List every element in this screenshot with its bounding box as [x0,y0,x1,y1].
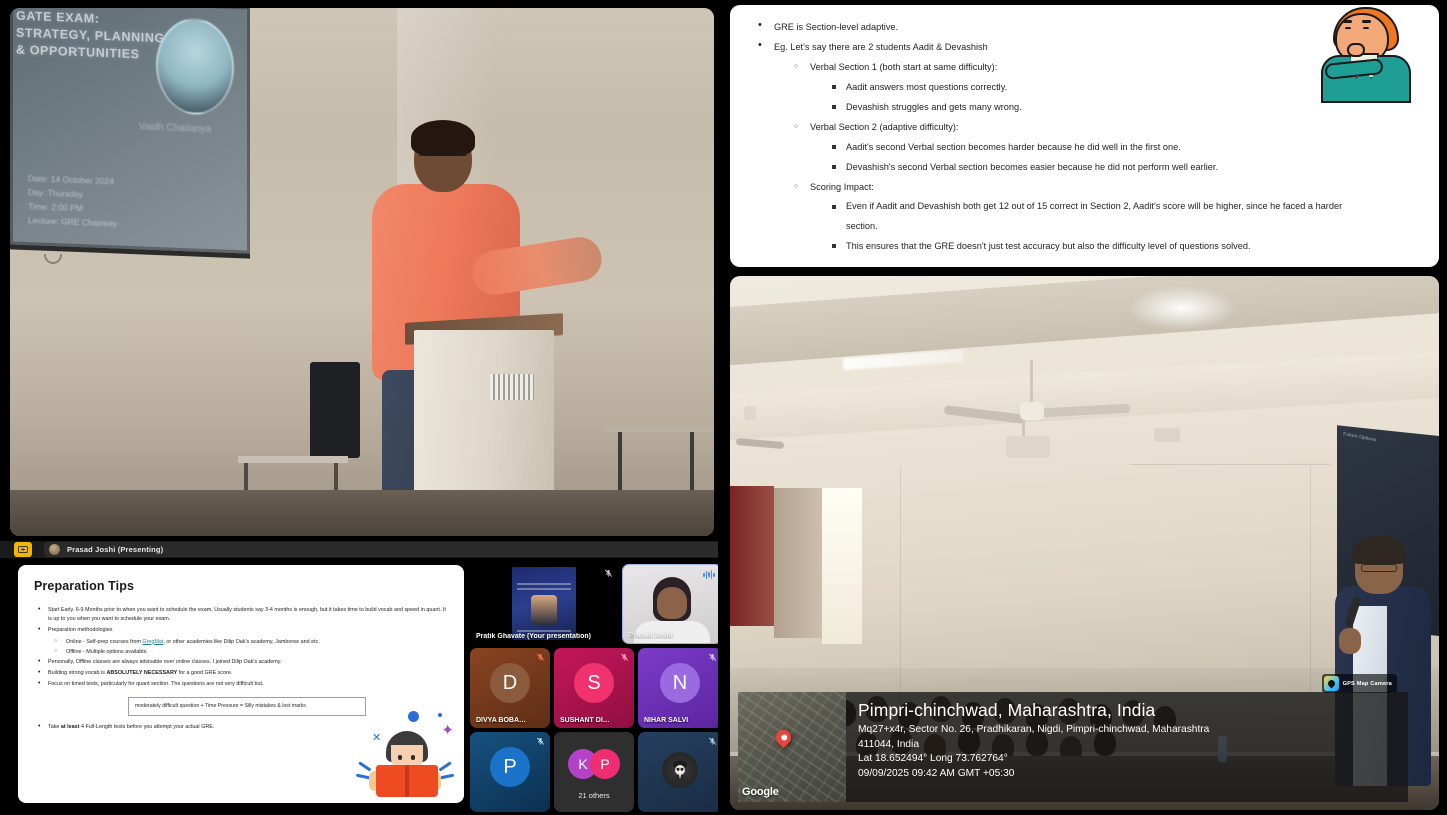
mic-off-icon [708,652,717,662]
presenter-glasses [419,154,467,163]
speaking-wave-icon [703,570,715,579]
avatar: P [490,747,530,787]
speaker-glasses [1361,564,1397,572]
avatar [49,544,60,555]
others-count-label: 21 others [554,791,634,800]
gps-timestamp: 09/09/2025 09:42 AM GMT +05:30 [858,767,1396,782]
window-curtain-red [730,486,774,626]
child-eye-left [398,755,402,760]
pin-glyph [1326,679,1336,689]
detail-lecture: Lecture: GRE Chairway [28,213,117,230]
tile-others-overflow[interactable]: K P 21 others [554,732,634,812]
fl-post: 4 Full-Length tests before you attempt y… [79,724,214,730]
gre-bullet-7: Devashish's second Verbal section become… [744,157,1421,177]
projection-screen: GATE EXAM: STRATEGY, PLANNING & OPPORTUN… [10,8,250,259]
tile-sushant-didw[interactable]: S SUSHANT DIDW... [554,648,634,728]
avatar: S [574,663,614,703]
bullet-personally: Personally, Offline classes are always a… [34,658,448,667]
reading-child-icon: ✦ ✕ [352,709,458,801]
gps-location-card: Google Pimpri-chinchwad, Maharashtra, In… [738,692,1408,802]
vocab-pre: Building strong vocab is [48,670,106,676]
bullet-offline: Offline - Multiple options available. [34,648,448,657]
gps-address-line2: 411044, India [858,738,1396,753]
gregmat-link[interactable]: GregMat [142,639,163,645]
mic-off-icon [536,736,545,746]
left-column: GATE EXAM: STRATEGY, PLANNING & OPPORTUN… [0,0,722,815]
meeting-screen: GATE EXAM: STRATEGY, PLANNING & OPPORTUN… [0,0,1447,815]
gre-bullet-5: Verbal Section 2 (adaptive difficulty): [744,117,1421,137]
wall-panel-line [1130,464,1330,465]
bullet-vocab: Building strong vocab is ABSOLUTELY NECE… [34,669,448,678]
fan-small-blade [736,438,784,449]
thinker-brow-left [1343,20,1352,23]
tile-anonymous-participant[interactable] [638,732,722,812]
avatar: D [490,663,530,703]
participant-face [657,587,687,619]
gps-coordinates: Lat 18.652494° Long 73.762764° [858,752,1396,767]
decor-ray [356,774,370,779]
vocab-bold: ABSOLUTELY NECESSARY [106,670,177,676]
fan-motor [1020,402,1044,420]
ceiling-light-glow [1127,286,1237,330]
shared-slide-preparation-tips[interactable]: Preparation Tips Start Early. 6-9 Months… [18,565,464,803]
podium-sticker [490,374,534,400]
tile-nihar-salvi[interactable]: N NIHAR SALVI [638,648,722,728]
gps-map-thumbnail[interactable]: Google [738,692,846,802]
map-pin-icon [773,727,794,748]
gre-bullet-10: This ensures that the GRE doesn't just t… [744,236,1421,256]
gre-bullet-9: Even if Aadit and Devashish both get 12 … [744,197,1421,236]
child-eye-right [411,755,415,760]
fan-small-motor [744,406,756,420]
floor [10,490,714,536]
mic-off-icon [536,652,545,662]
thumbnail-face [531,595,557,625]
thinker-eye-right [1363,27,1369,31]
tile-label: NIHAR SALVI [644,717,702,724]
thinking-person-icon [1319,5,1413,103]
decor-dot [408,711,419,722]
others-avatars: K P [568,749,620,779]
presenter-status-bar: Prasad Joshi (Presenting) [0,541,722,558]
fan-rod [1030,360,1033,404]
ceiling-beam [730,276,1439,367]
window-daylight [822,488,862,644]
classroom-photo-tile[interactable]: Future Options [730,276,1439,810]
decor-ray [440,774,454,779]
decor-dot-small [438,713,442,717]
tile-label: SUSHANT DIDW... [560,717,614,724]
presenter-pill[interactable]: Prasad Joshi (Presenting) [44,542,722,557]
presentation-thumbnail [512,567,576,640]
child-book-spine [405,765,409,797]
presenter-name: Prasad Joshi (Presenting) [67,545,163,554]
bullet-start-early: Start Early. 6-9 Months prior to when yo… [34,606,448,624]
desk-monitor [310,362,360,458]
bullet-timed-tests: Focus on timed tests, particularly for q… [34,680,448,689]
mic-off-icon [620,652,629,662]
tile-participant-p[interactable]: P [470,732,550,812]
online-pre: Online - Self-prep courses from [66,639,142,645]
tile-pratik-ghavate-presentation[interactable]: Pratik Ghavate (Your presentation) [470,564,618,644]
decor-star-blue: ✕ [372,733,381,743]
mic-off-icon [604,568,613,578]
projected-speaker-name: Vaidh Chaitanya [120,120,230,138]
page-title: Preparation Tips [34,579,448,593]
tile-label: Pratik Ghavate (Your presentation) [476,633,612,640]
projected-slide-details: Date: 14 October 2024 Day: Thursday Time… [28,171,117,230]
window-curtain-beige [774,488,822,638]
presenter-hair [411,120,475,156]
avatar [662,752,698,788]
gps-map-camera-badge: GPS Map Camera [1322,674,1397,693]
thinker-eye-left [1345,27,1351,31]
thinker-hand [1347,43,1365,57]
ceiling-projector [1006,436,1050,458]
projected-slide-title: GATE EXAM: STRATEGY, PLANNING & OPPORTUN… [16,8,166,64]
ceiling-projector-secondary [1154,428,1180,442]
shared-slide-gre-adaptive[interactable]: GRE is Section-level adaptive. Eg. Let's… [730,5,1439,267]
projected-speaker-photo [156,17,234,116]
bullet-methodologies: Preparation methodologies [34,626,448,635]
gps-map-camera-logo [1324,676,1339,691]
speaker-hair [1352,536,1406,564]
mic-off-icon [708,736,717,746]
gre-bullet-6: Aadit's second Verbal section becomes ha… [744,137,1421,157]
right-column: GRE is Section-level adaptive. Eg. Let's… [722,0,1447,815]
participant-tile-grid: Pratik Ghavate (Your presentation) Prasa… [470,564,722,815]
screen-slide-text: Future Options [1343,430,1435,457]
fl-bold: at least [61,724,80,730]
decor-ray [438,761,451,771]
ceiling-beam-secondary [730,348,1439,441]
speaker-video-tile[interactable]: GATE EXAM: STRATEGY, PLANNING & OPPORTUN… [10,8,714,536]
fl-pre: Take [48,724,61,730]
gps-badge-label: GPS Map Camera [1343,681,1392,687]
tile-divya-bobade[interactable]: D DIVYA BOBADE ... [470,648,550,728]
tile-label: DIVYA BOBADE ... [476,717,530,724]
google-watermark: Google [742,786,779,798]
decor-ray [358,761,371,771]
vocab-post: for a good GRE score. [177,670,232,676]
gre-bullet-8: Scoring Impact: [744,177,1421,197]
gps-city: Pimpri-chinchwad, Maharashtra, India [858,700,1396,721]
decor-star-purple: ✦ [441,725,454,737]
bullet-online: Online - Self-prep courses from GregMat,… [34,638,448,647]
gps-info-block: Pimpri-chinchwad, Maharashtra, India Mq2… [846,692,1408,802]
avatar: N [660,663,700,703]
equation-box: moderately difficult question + Time Pre… [128,697,366,716]
tile-label: Prasad Joshi [629,632,701,639]
present-screen-icon[interactable] [14,542,32,557]
avatar: P [590,749,620,779]
tile-prasad-joshi[interactable]: Prasad Joshi [622,564,722,644]
speaker-hand [1339,628,1361,654]
gps-address-line1: Mq27+x4r, Sector No. 26, Pradhikaran, Ni… [858,723,1396,738]
thinker-brow-right [1362,20,1371,23]
online-post: , or other academies like Dilip Oak's ac… [163,639,319,645]
